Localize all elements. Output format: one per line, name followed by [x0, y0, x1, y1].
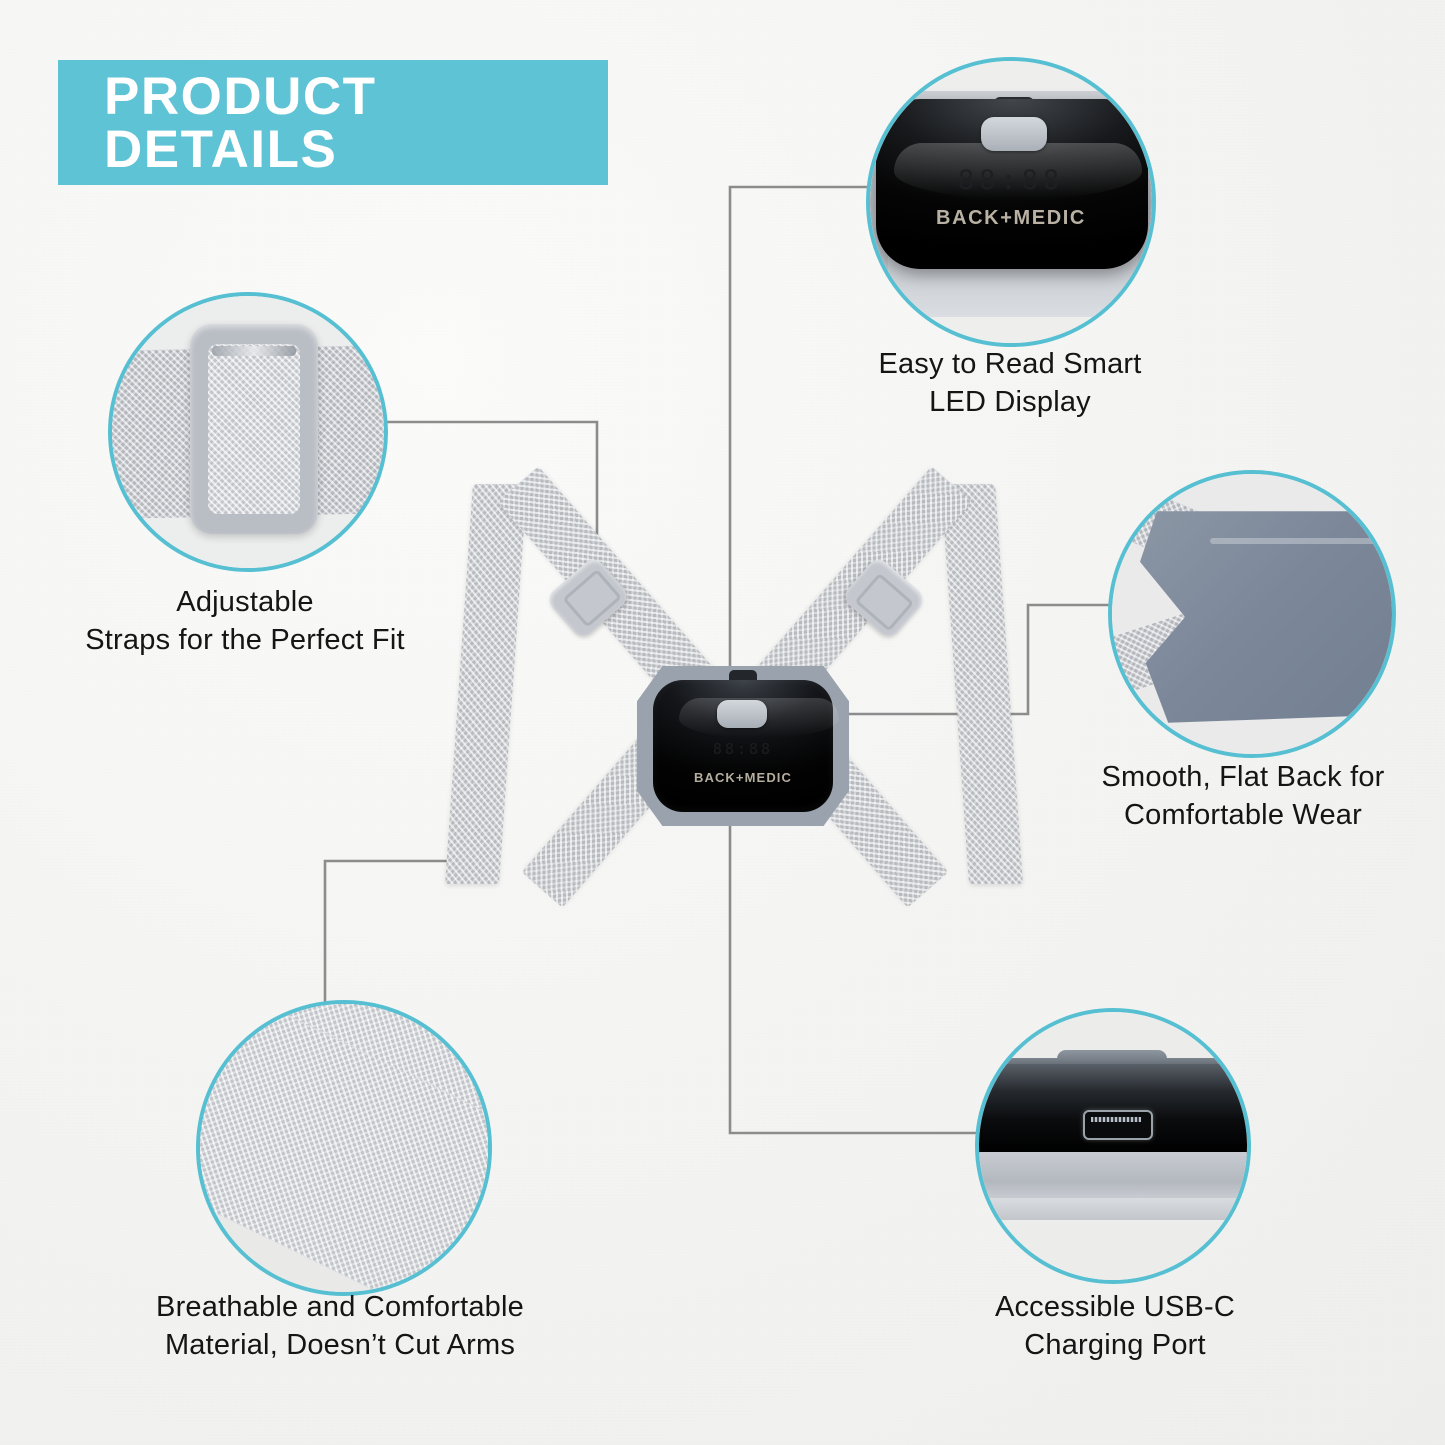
device-power-button — [981, 117, 1047, 151]
buckle-metal-glint — [212, 346, 296, 356]
callout-caption-adjustable-straps: Adjustable Straps for the Perfect Fit — [20, 583, 470, 660]
product-image-posture-brace: 88:88 BACK+MEDIC — [455, 470, 1015, 930]
caption-line-2: LED Display — [845, 383, 1175, 421]
callout-caption-usb-c-port: Accessible USB-C Charging Port — [940, 1288, 1290, 1365]
module-led-digits: 88:88 — [637, 740, 849, 758]
callout-caption-flat-back: Smooth, Flat Back for Comfortable Wear — [1068, 758, 1418, 835]
callout-caption-breathable-material: Breathable and Comfortable Material, Doe… — [90, 1288, 590, 1365]
caption-line-2: Material, Doesn’t Cut Arms — [90, 1326, 590, 1364]
callout-image-woven-fabric — [196, 1000, 492, 1296]
callout-image-usb-port — [975, 1008, 1251, 1284]
caption-line-1: Smooth, Flat Back for — [1068, 758, 1418, 796]
strap-outer-right — [941, 484, 1023, 884]
device-black-edge — [975, 1064, 1251, 1154]
callout-image-strap-buckle — [108, 292, 388, 572]
caption-line-2: Straps for the Perfect Fit — [20, 621, 470, 659]
usb-port-pins — [1091, 1117, 1141, 1122]
device-brand-label: BACK+MEDIC — [870, 207, 1152, 230]
caption-line-1: Breathable and Comfortable — [90, 1288, 590, 1326]
infographic-canvas: PRODUCT DETAILS — [0, 0, 1445, 1445]
callout-image-led-display: 88:88 BACK+MEDIC — [866, 57, 1156, 347]
usb-strap-band-lower — [975, 1198, 1251, 1220]
module-power-button[interactable] — [717, 700, 767, 728]
buckle-inner-strap — [208, 344, 300, 514]
caption-line-2: Comfortable Wear — [1068, 796, 1418, 834]
caption-line-1: Adjustable — [20, 583, 470, 621]
callout-caption-led-display: Easy to Read Smart LED Display — [845, 345, 1175, 422]
caption-line-1: Accessible USB-C — [940, 1288, 1290, 1326]
module-brand-label: BACK+MEDIC — [637, 770, 849, 785]
flat-back-highlight — [1210, 538, 1396, 544]
strap-outer-left — [445, 484, 527, 884]
caption-line-1: Easy to Read Smart — [845, 345, 1175, 383]
device-module[interactable]: 88:88 BACK+MEDIC — [637, 666, 849, 826]
usb-c-port-icon — [1083, 1110, 1153, 1140]
callout-image-flat-back — [1108, 470, 1396, 758]
caption-line-2: Charging Port — [940, 1326, 1290, 1364]
led-digits: 88:88 — [870, 165, 1152, 196]
